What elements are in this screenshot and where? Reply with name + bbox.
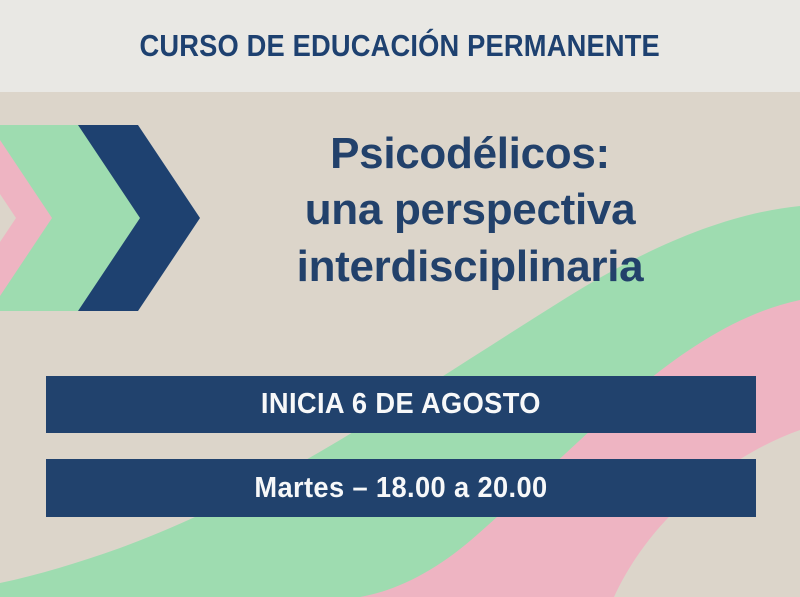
course-title: Psicodélicos: una perspectiva interdisci… (210, 126, 730, 295)
poster-canvas: CURSO DE EDUCACIÓN PERMANENTE Psicodélic… (0, 0, 800, 597)
start-date-bar: INICIA 6 DE AGOSTO (46, 376, 756, 433)
schedule-bar: Martes – 18.00 a 20.00 (46, 459, 756, 517)
page-title: CURSO DE EDUCACIÓN PERMANENTE (140, 28, 660, 64)
start-date-label: INICIA 6 DE AGOSTO (261, 388, 541, 421)
header-band: CURSO DE EDUCACIÓN PERMANENTE (0, 0, 800, 92)
course-title-line-3: interdisciplinaria (210, 239, 730, 295)
schedule-label: Martes – 18.00 a 20.00 (254, 472, 547, 505)
course-title-line-1: Psicodélicos: (210, 126, 730, 182)
course-title-line-2: una perspectiva (210, 182, 730, 238)
